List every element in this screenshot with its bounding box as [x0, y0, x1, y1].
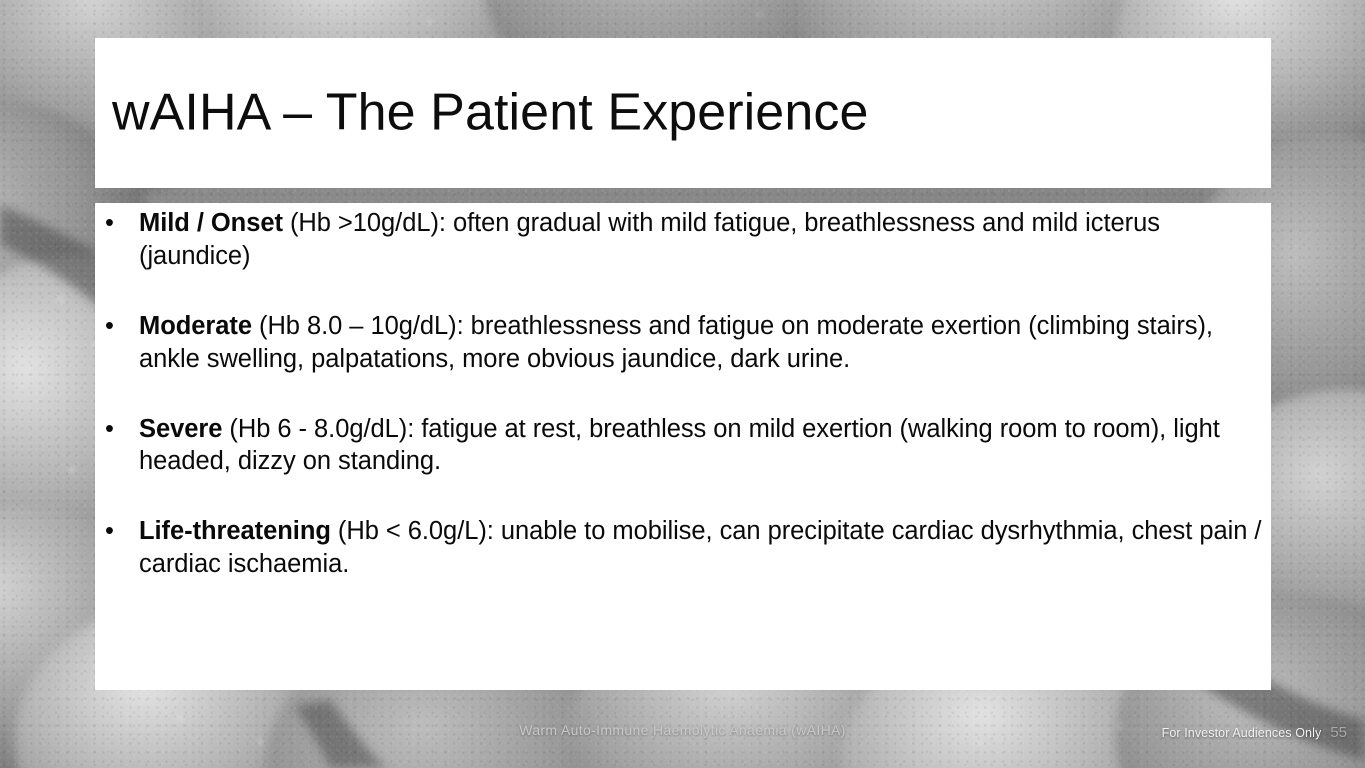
investor-audience-note: For Investor Audiences Only — [1162, 726, 1322, 740]
footer-caption: Warm Auto-Immune Haemolytic Anaemia (wAI… — [0, 722, 1365, 738]
bullet-body: (Hb 8.0 – 10g/dL): breathlessness and fa… — [139, 312, 1213, 373]
list-item: • Severe (Hb 6 - 8.0g/dL): fatigue at re… — [105, 413, 1271, 479]
list-item: • Moderate (Hb 8.0 – 10g/dL): breathless… — [105, 310, 1271, 376]
presentation-slide: wAIHA – The Patient Experience • Mild / … — [0, 0, 1365, 768]
bullet-term: Mild / Onset — [139, 209, 283, 237]
bullet-term: Life-threatening — [139, 517, 331, 545]
bullet-marker-icon: • — [105, 207, 114, 240]
page-number: 55 — [1330, 724, 1347, 741]
page-title: wAIHA – The Patient Experience — [112, 86, 868, 141]
title-card: wAIHA – The Patient Experience — [95, 38, 1271, 188]
bullet-list: • Mild / Onset (Hb >10g/dL): often gradu… — [105, 207, 1271, 581]
body-card: • Mild / Onset (Hb >10g/dL): often gradu… — [95, 203, 1271, 690]
bullet-term: Severe — [139, 415, 222, 443]
bullet-marker-icon: • — [105, 515, 114, 548]
bullet-marker-icon: • — [105, 310, 114, 343]
bullet-term: Moderate — [139, 312, 252, 340]
footer-right-group: For Investor Audiences Only 55 — [1162, 724, 1347, 741]
list-item: • Mild / Onset (Hb >10g/dL): often gradu… — [105, 207, 1271, 273]
bullet-body: (Hb >10g/dL): often gradual with mild fa… — [139, 209, 1160, 270]
bullet-body: (Hb 6 - 8.0g/dL): fatigue at rest, breat… — [139, 415, 1220, 476]
list-item: • Life-threatening (Hb < 6.0g/L): unable… — [105, 515, 1271, 581]
bullet-marker-icon: • — [105, 413, 114, 446]
